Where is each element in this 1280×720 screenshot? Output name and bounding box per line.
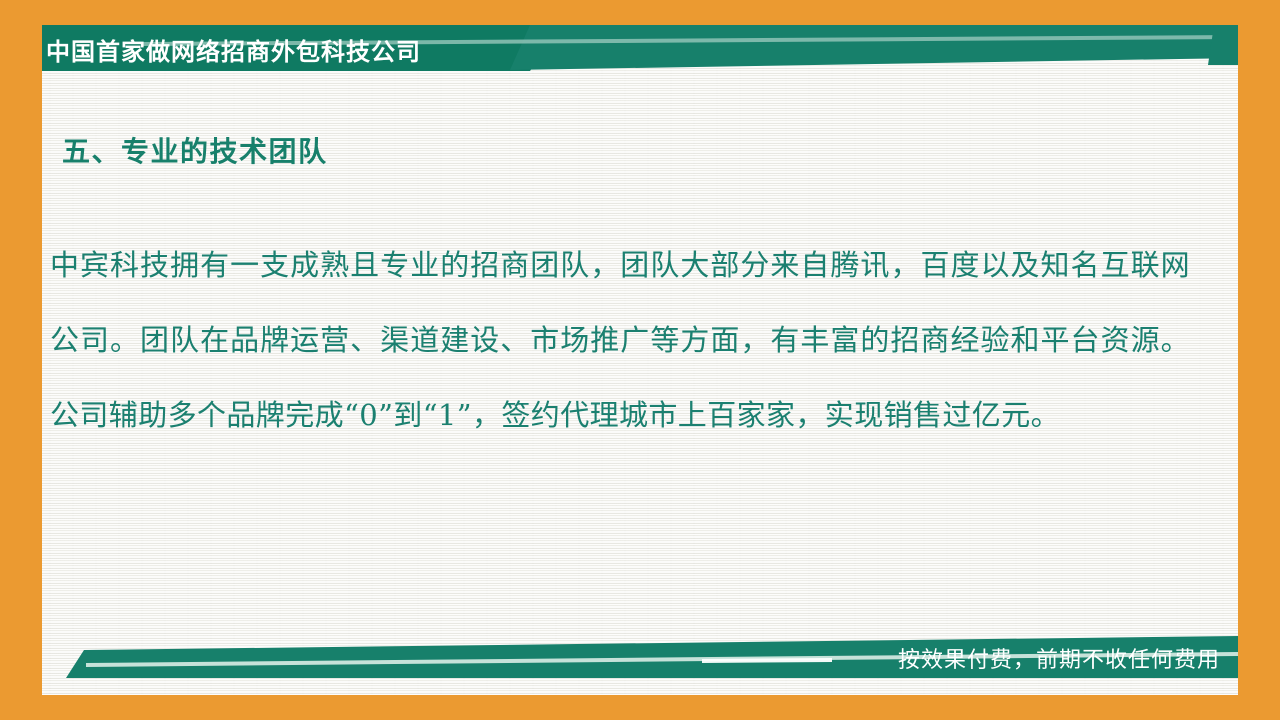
body-text-block: 中宾科技拥有一支成熟且专业的招商团队，团队大部分来自腾讯，百度以及知名互联网公司… (50, 228, 1190, 453)
body-paragraph: 中宾科技拥有一支成熟且专业的招商团队，团队大部分来自腾讯，百度以及知名互联网公司… (50, 228, 1190, 453)
slide-canvas: 中国首家做网络招商外包科技公司 五、专业的技术团队 中宾科技拥有一支成熟且专业的… (0, 0, 1280, 720)
page-title: 五、专业的技术团队 (62, 132, 328, 172)
header-title: 中国首家做网络招商外包科技公司 (46, 37, 421, 67)
footer-tagline: 按效果付费，前期不收任何费用 (898, 646, 1220, 676)
